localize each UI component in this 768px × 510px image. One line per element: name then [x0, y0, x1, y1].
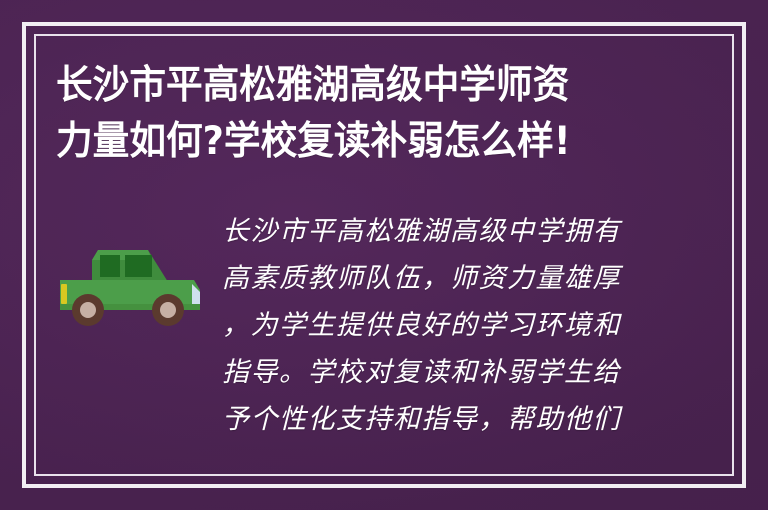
- body-line-4: 指导。学校对复读和补弱学生给: [222, 349, 672, 396]
- body-line-2: 高素质教师队伍，师资力量雄厚: [222, 255, 672, 302]
- body-line-1: 长沙市平高松雅湖高级中学拥有: [222, 208, 672, 255]
- title-line-1: 长沙市平高松雅湖高级中学师资: [56, 58, 629, 114]
- title-line-2: 力量如何?学校复读补弱怎么样!: [56, 114, 629, 170]
- body-line-5: 予个性化支持和指导，帮助他们: [222, 396, 672, 443]
- poster-body-text: 长沙市平高松雅湖高级中学拥有 高素质教师队伍，师资力量雄厚 ，为学生提供良好的学…: [222, 208, 672, 443]
- pickup-truck-icon: [52, 228, 224, 332]
- body-line-3: ，为学生提供良好的学习环境和: [222, 302, 672, 349]
- poster-title: 长沙市平高松雅湖高级中学师资 力量如何?学校复读补弱怎么样!: [56, 58, 666, 170]
- poster-canvas: 长沙市平高松雅湖高级中学师资 力量如何?学校复读补弱怎么样!: [0, 0, 768, 510]
